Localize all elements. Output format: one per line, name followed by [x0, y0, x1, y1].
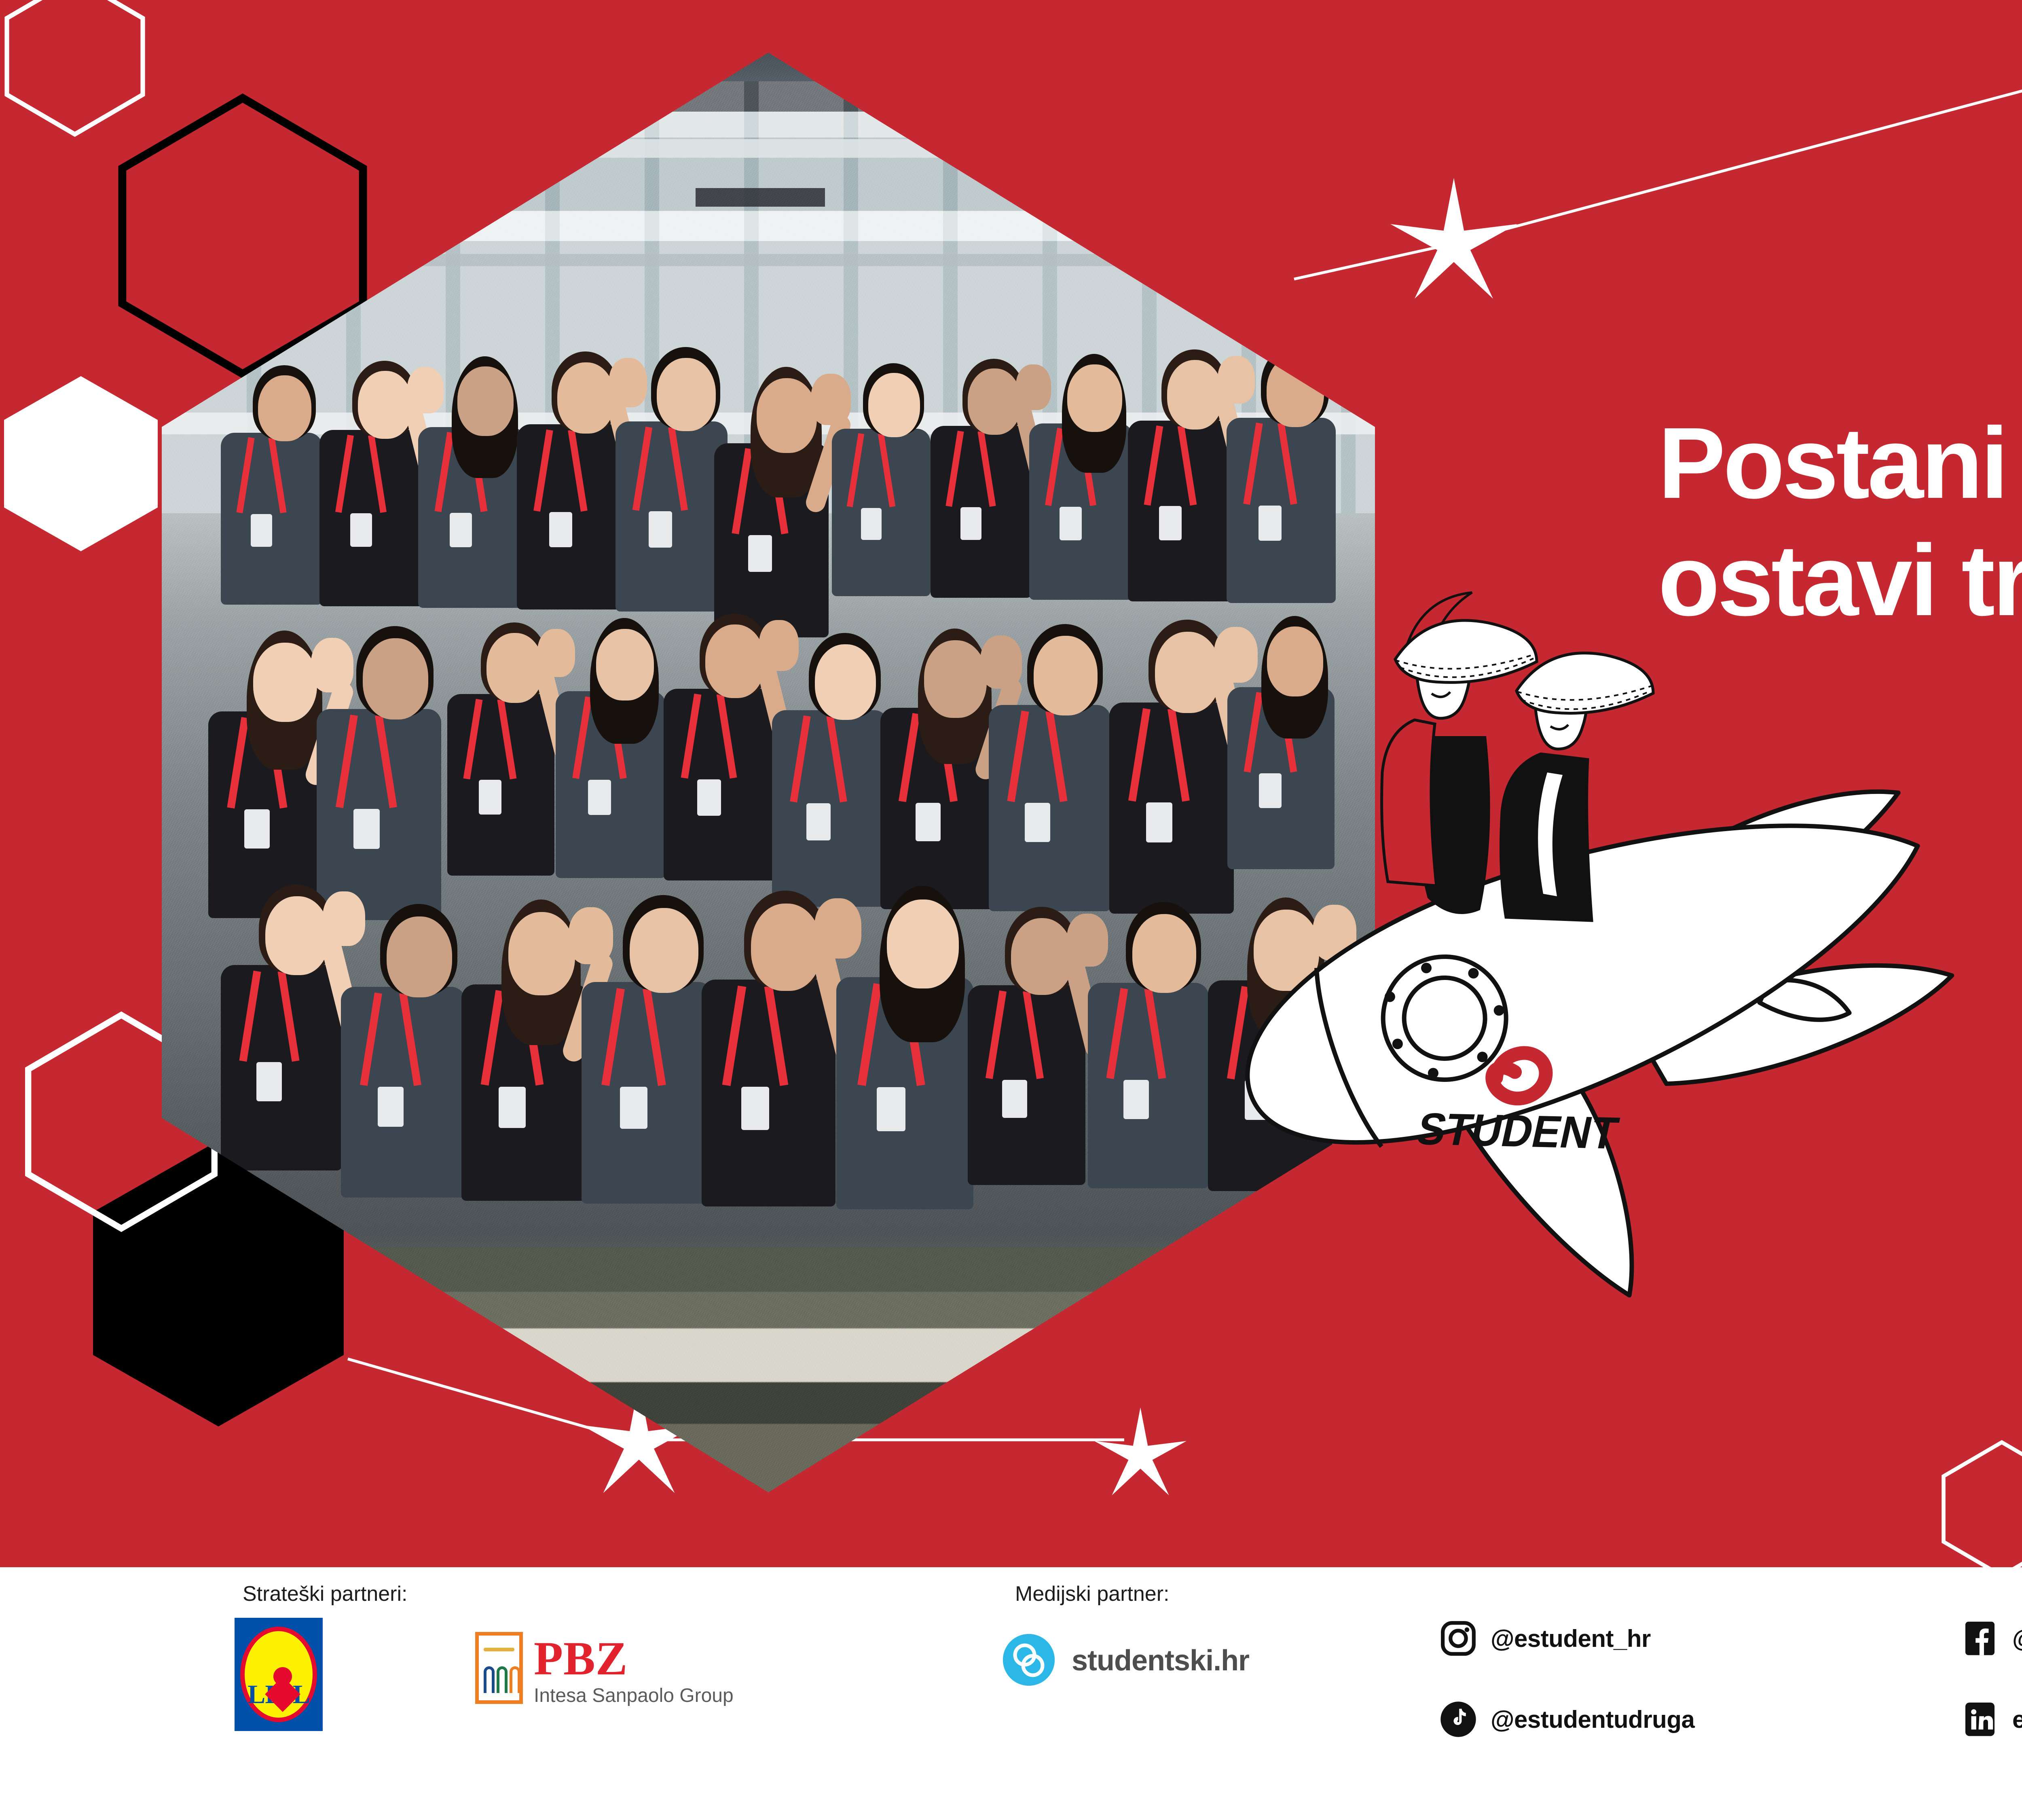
footer-bar: Strateški partneri: LIDL PBZ Intesa Sanp… [0, 1567, 2022, 1820]
graffiti-word: STUDENT [1412, 1104, 1622, 1158]
strategic-partners-label: Strateški partneri: [243, 1582, 408, 1606]
photo-person-badge [916, 803, 941, 841]
character-black-shirt [1501, 653, 1654, 921]
photo-person-badge [748, 535, 772, 572]
social-linkedin[interactable]: eSTUDENT [1961, 1701, 2022, 1738]
tiktok-handle: @estudentudruga [1491, 1706, 1694, 1733]
photo-person-badge [479, 780, 501, 815]
pbz-wordmark: PBZ [534, 1631, 628, 1686]
tiktok-icon [1440, 1701, 1477, 1738]
photo-person-badge [861, 508, 882, 540]
graffiti-e [1489, 1050, 1549, 1102]
photo-person-badge [588, 780, 611, 815]
pbz-bar [484, 1648, 514, 1651]
linkedin-handle: eSTUDENT [2012, 1706, 2022, 1733]
photo-person-badge [649, 511, 672, 547]
photo-person-head [1267, 356, 1324, 427]
facebook-handle: @eSTUDENT.hr [2012, 1625, 2022, 1653]
studentski-wordmark: studentski.hr [1072, 1644, 1249, 1677]
media-partner-label: Medijski partner: [1015, 1582, 1169, 1606]
photo-person-badge [549, 512, 572, 547]
photo-person-badge [960, 507, 982, 540]
poster-canvas: Postani član, ostavi trag! [0, 0, 2022, 1820]
photo-person-badge [620, 1087, 647, 1129]
photo-person-badge [244, 809, 270, 849]
photo-person-badge [251, 514, 272, 547]
photo-person-badge [806, 803, 831, 840]
photo-person-badge [378, 1087, 404, 1127]
pbz-arch-green [497, 1666, 508, 1693]
photo-person-badge [741, 1087, 770, 1130]
photo-person-badge [350, 513, 372, 547]
instagram-handle: @estudent_hr [1491, 1625, 1651, 1653]
photo-person-badge [353, 809, 380, 849]
photo-person-badge [697, 779, 721, 816]
photo-person-badge [1060, 507, 1081, 540]
decor-hexagon [1941, 1440, 2022, 1578]
pbz-arch-blue [484, 1666, 495, 1693]
photo-person-badge [877, 1087, 905, 1131]
headline-line-1: Postani član, [1658, 406, 2022, 519]
studentski-mark [1003, 1634, 1055, 1686]
instagram-icon [1440, 1620, 1477, 1657]
lidl-dot [273, 1667, 292, 1686]
social-tiktok[interactable]: @estudentudruga [1440, 1701, 1694, 1738]
character-shirt [1382, 720, 1436, 886]
photo-person-badge [1002, 1080, 1027, 1118]
facebook-icon [1961, 1620, 1999, 1657]
lidl-logo: LIDL [235, 1618, 323, 1731]
pbz-mark [475, 1632, 523, 1704]
linkedin-icon [1961, 1701, 1999, 1738]
photo-person-badge [499, 1087, 525, 1128]
decor-hexagon [4, 376, 158, 551]
photo-person-badge [1025, 803, 1050, 842]
pbz-subtitle: Intesa Sanpaolo Group [534, 1685, 734, 1707]
net-line [1440, 61, 2022, 247]
character-illustrations [1314, 546, 1678, 950]
social-facebook[interactable]: @eSTUDENT.hr [1961, 1620, 2022, 1657]
social-instagram[interactable]: @estudent_hr [1440, 1620, 1651, 1657]
pbz-arch-orange [510, 1666, 520, 1693]
photo-person-badge [450, 513, 472, 547]
decor-star [1387, 178, 1521, 311]
photo-person-badge [256, 1062, 282, 1101]
